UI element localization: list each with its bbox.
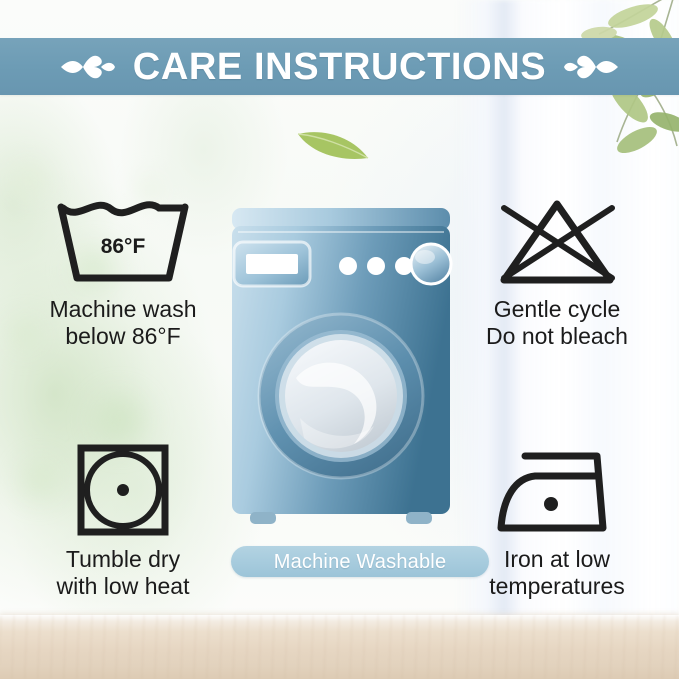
care-item-label: Iron at low temperatures <box>489 546 625 600</box>
icon-wrap <box>75 442 171 538</box>
wash-temperature-value: 86°F <box>101 235 146 258</box>
care-item-label: Tumble dry with low heat <box>57 546 190 600</box>
header-banner: CARE INSTRUCTIONS <box>0 38 679 95</box>
page-title: CARE INSTRUCTIONS <box>133 48 546 86</box>
care-item-do-not-bleach: Gentle cycle Do not bleach <box>452 192 662 350</box>
care-item-label: Machine wash below 86°F <box>49 296 196 350</box>
iron-one-dot-icon <box>491 446 623 538</box>
wash-tub-icon: 86°F <box>53 196 193 288</box>
triangle-crossed-out-icon <box>492 196 622 288</box>
washing-machine-illustration <box>228 206 454 536</box>
fleur-de-lis-ornament-right-icon <box>562 47 620 87</box>
badge-label: Machine Washable <box>274 552 447 572</box>
icon-wrap <box>491 442 623 538</box>
machine-washable-badge: Machine Washable <box>231 546 489 577</box>
care-item-label: Gentle cycle Do not bleach <box>486 296 628 350</box>
care-item-iron-low: Iron at low temperatures <box>452 442 662 600</box>
wooden-table-surface <box>0 615 679 679</box>
care-item-machine-wash: 86°F Machine wash below 86°F <box>18 192 228 350</box>
tumble-dry-low-icon <box>75 442 171 538</box>
icon-wrap <box>492 192 622 288</box>
care-instructions-infographic: CARE INSTRUCTIONS 86°F Machine wash belo… <box>0 0 679 679</box>
care-item-tumble-dry: Tumble dry with low heat <box>18 442 228 600</box>
icon-wrap: 86°F <box>53 192 193 288</box>
fleur-de-lis-ornament-left-icon <box>59 47 117 87</box>
